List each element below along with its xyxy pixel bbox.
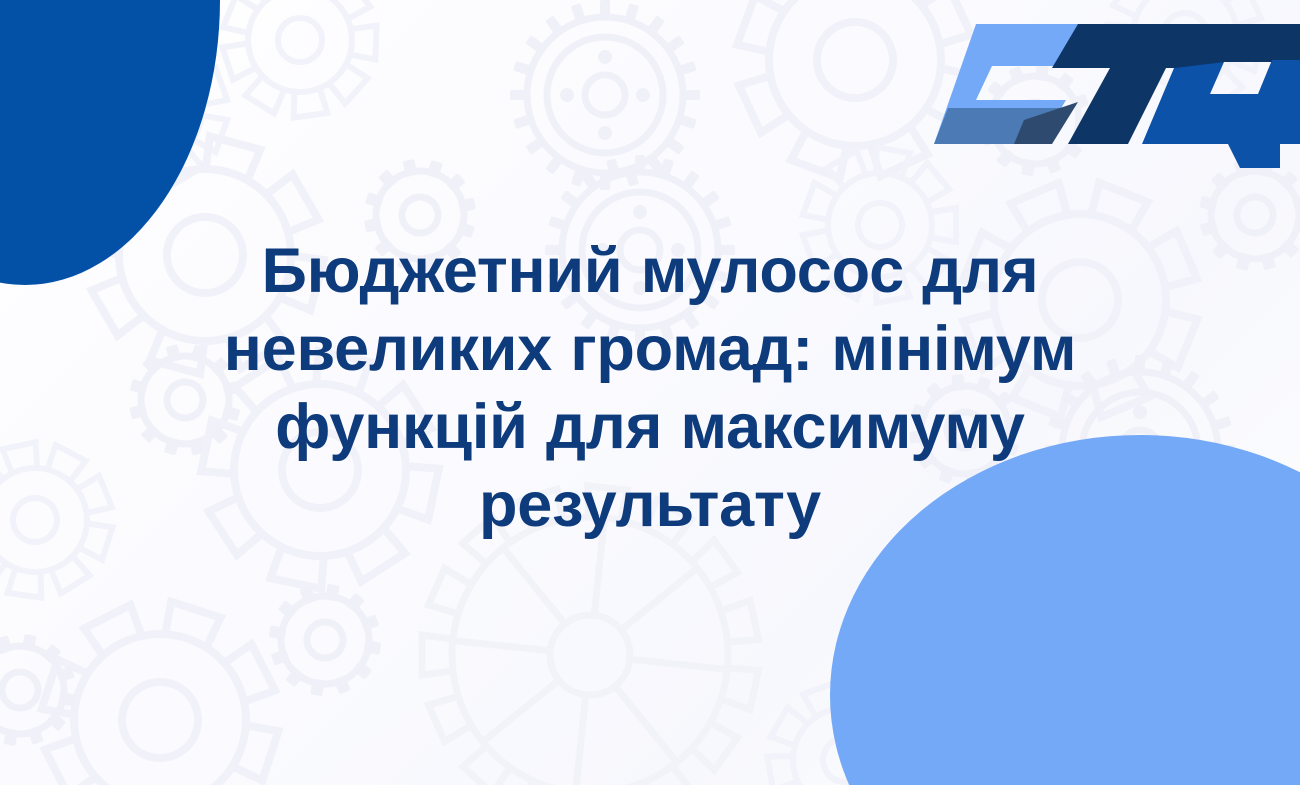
brand-logo-stc[interactable] (928, 16, 1300, 178)
promo-banner: Бюджетний мулосос для невеликих громад: … (0, 0, 1300, 785)
page-title: Бюджетний мулосос для невеликих громад: … (210, 232, 1090, 544)
headline-container: Бюджетний мулосос для невеликих громад: … (0, 232, 1300, 544)
